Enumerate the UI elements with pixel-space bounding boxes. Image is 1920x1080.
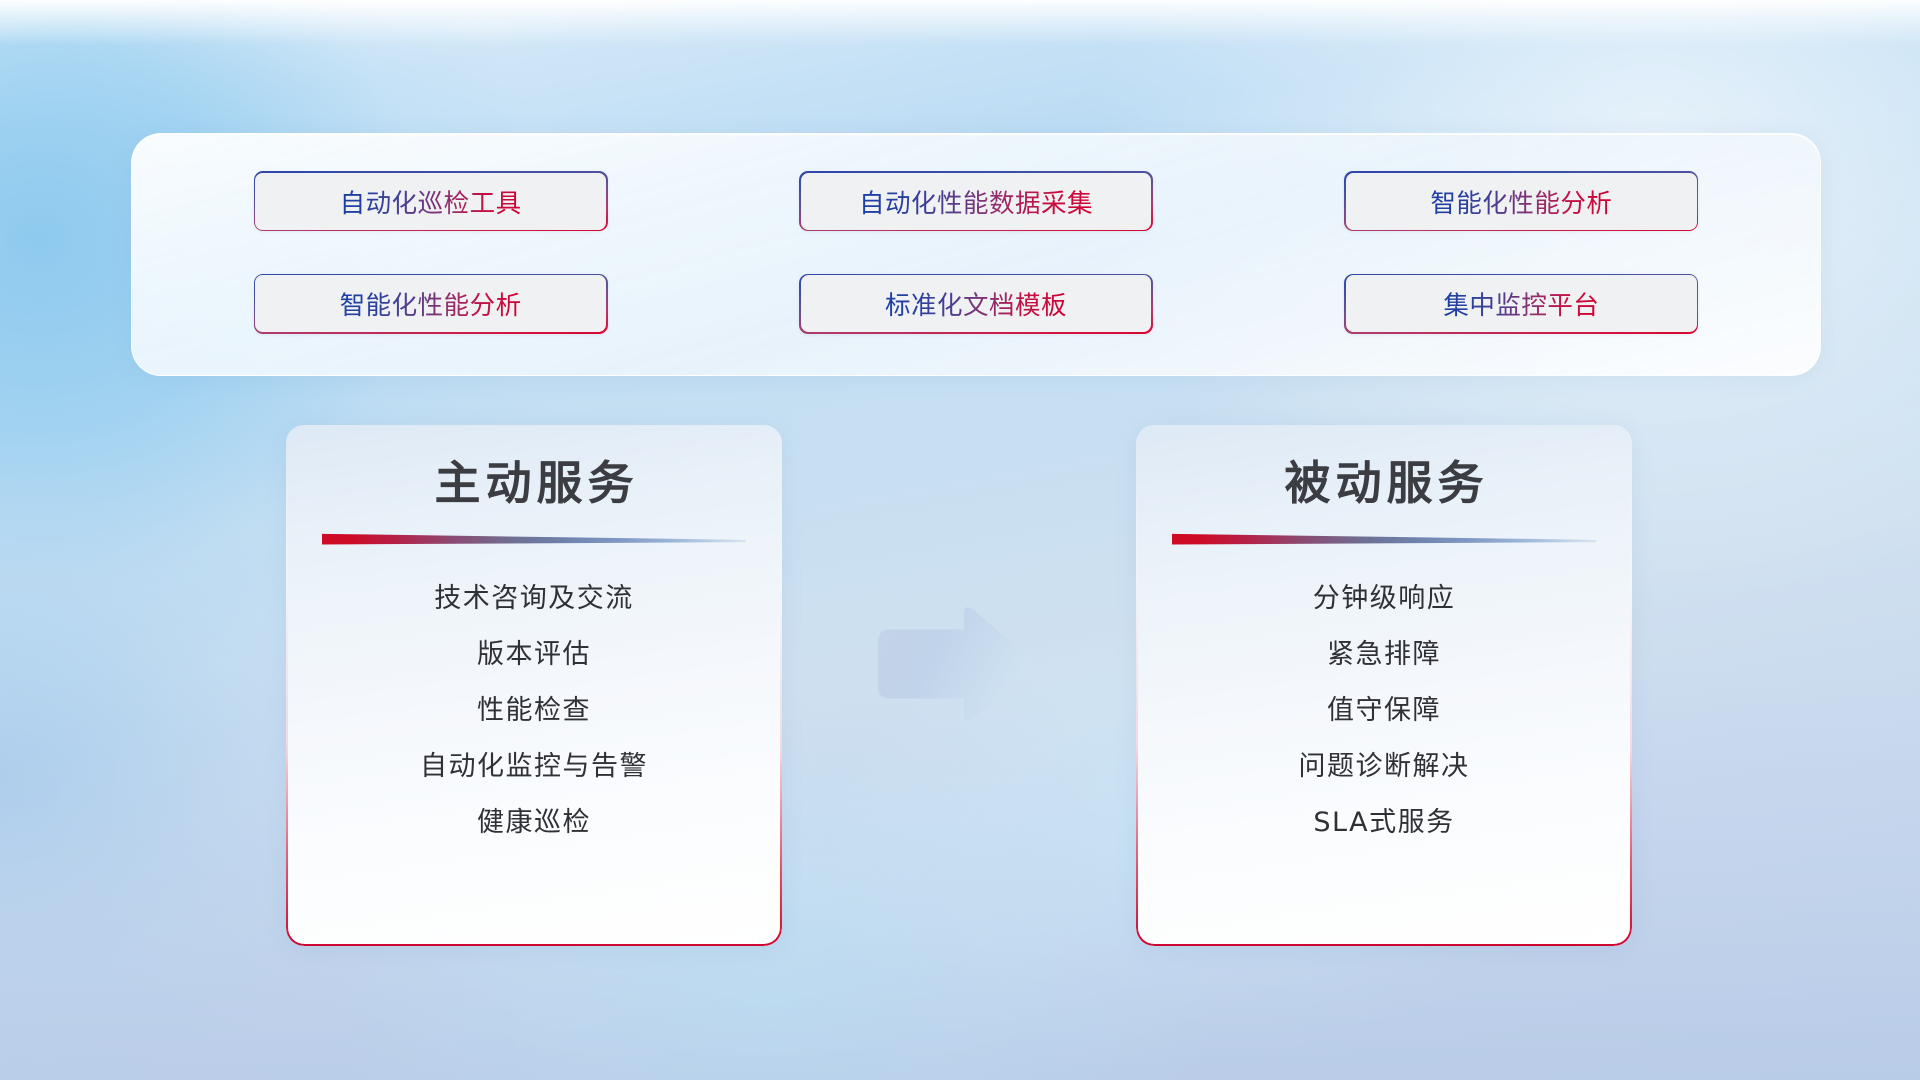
capability-tag-label: 集中监控平台	[1443, 285, 1599, 322]
capability-tag[interactable]: 智能化性能分析	[254, 274, 608, 334]
flow-arrow-right-icon	[874, 604, 1037, 724]
capability-tag[interactable]: 自动化性能数据采集	[799, 171, 1153, 231]
service-list-item[interactable]: 值守保障	[1327, 683, 1441, 739]
capability-tag[interactable]: 标准化文档模板	[799, 274, 1153, 334]
service-card-body: 被动服务 分钟级响应 紧急排障 值守保障 问题诊断解决 SLA式服务	[1136, 425, 1632, 946]
capability-tags-panel: 自动化巡检工具 自动化性能数据采集 智能化性能分析 智能化性能分析	[131, 133, 1821, 376]
slide-canvas: 自动化巡检工具 自动化性能数据采集 智能化性能分析 智能化性能分析	[0, 0, 1920, 1080]
capability-tag-surface: 集中监控平台	[1346, 275, 1697, 332]
service-list-item[interactable]: 分钟级响应	[1313, 571, 1456, 627]
capability-tag-label: 自动化巡检工具	[340, 183, 522, 220]
capability-tag-label: 标准化文档模板	[885, 285, 1067, 322]
capability-tag-label: 智能化性能分析	[340, 285, 522, 322]
title-divider-wedge	[322, 532, 746, 545]
service-list-item[interactable]: 自动化监控与告警	[420, 739, 648, 795]
capability-tag-surface: 自动化巡检工具	[255, 173, 606, 230]
capability-tag[interactable]: 自动化巡检工具	[254, 171, 608, 231]
service-item-list: 技术咨询及交流 版本评估 性能检查 自动化监控与告警 健康巡检	[322, 571, 746, 851]
capability-tag-surface: 自动化性能数据采集	[801, 173, 1152, 230]
service-list-item[interactable]: 性能检查	[477, 683, 591, 739]
service-list-item[interactable]: 版本评估	[477, 627, 591, 683]
service-item-list: 分钟级响应 紧急排障 值守保障 问题诊断解决 SLA式服务	[1172, 571, 1596, 851]
service-list-item[interactable]: 紧急排障	[1327, 627, 1441, 683]
service-card-title: 被动服务	[1280, 455, 1489, 513]
service-list-item[interactable]: 问题诊断解决	[1299, 739, 1470, 795]
title-divider-wedge	[1172, 532, 1596, 545]
capability-tag-grid: 自动化巡检工具 自动化性能数据采集 智能化性能分析 智能化性能分析	[132, 134, 1820, 375]
capability-tag-label: 自动化性能数据采集	[859, 183, 1093, 220]
service-list-item[interactable]: 健康巡检	[477, 795, 591, 851]
service-card-active: 主动服务 技术咨询及交流 版本评估 性能检查 自动化监控与告警 健康巡检	[286, 425, 782, 946]
capability-tag-surface: 标准化文档模板	[801, 275, 1152, 332]
service-card-body: 主动服务 技术咨询及交流 版本评估 性能检查 自动化监控与告警 健康巡检	[286, 425, 782, 946]
service-list-item[interactable]: SLA式服务	[1313, 795, 1454, 851]
capability-tag-surface: 智能化性能分析	[255, 275, 606, 332]
service-list-item[interactable]: 技术咨询及交流	[434, 571, 634, 627]
service-card-title: 主动服务	[430, 455, 639, 513]
service-card-passive: 被动服务 分钟级响应 紧急排障 值守保障 问题诊断解决 SLA式服务	[1136, 425, 1632, 946]
capability-tag-label: 智能化性能分析	[1430, 183, 1612, 220]
capability-tag-surface: 智能化性能分析	[1346, 173, 1697, 230]
title-divider	[322, 532, 746, 545]
title-divider	[1172, 532, 1596, 545]
capability-tag[interactable]: 集中监控平台	[1344, 274, 1698, 334]
capability-tag[interactable]: 智能化性能分析	[1344, 171, 1698, 231]
